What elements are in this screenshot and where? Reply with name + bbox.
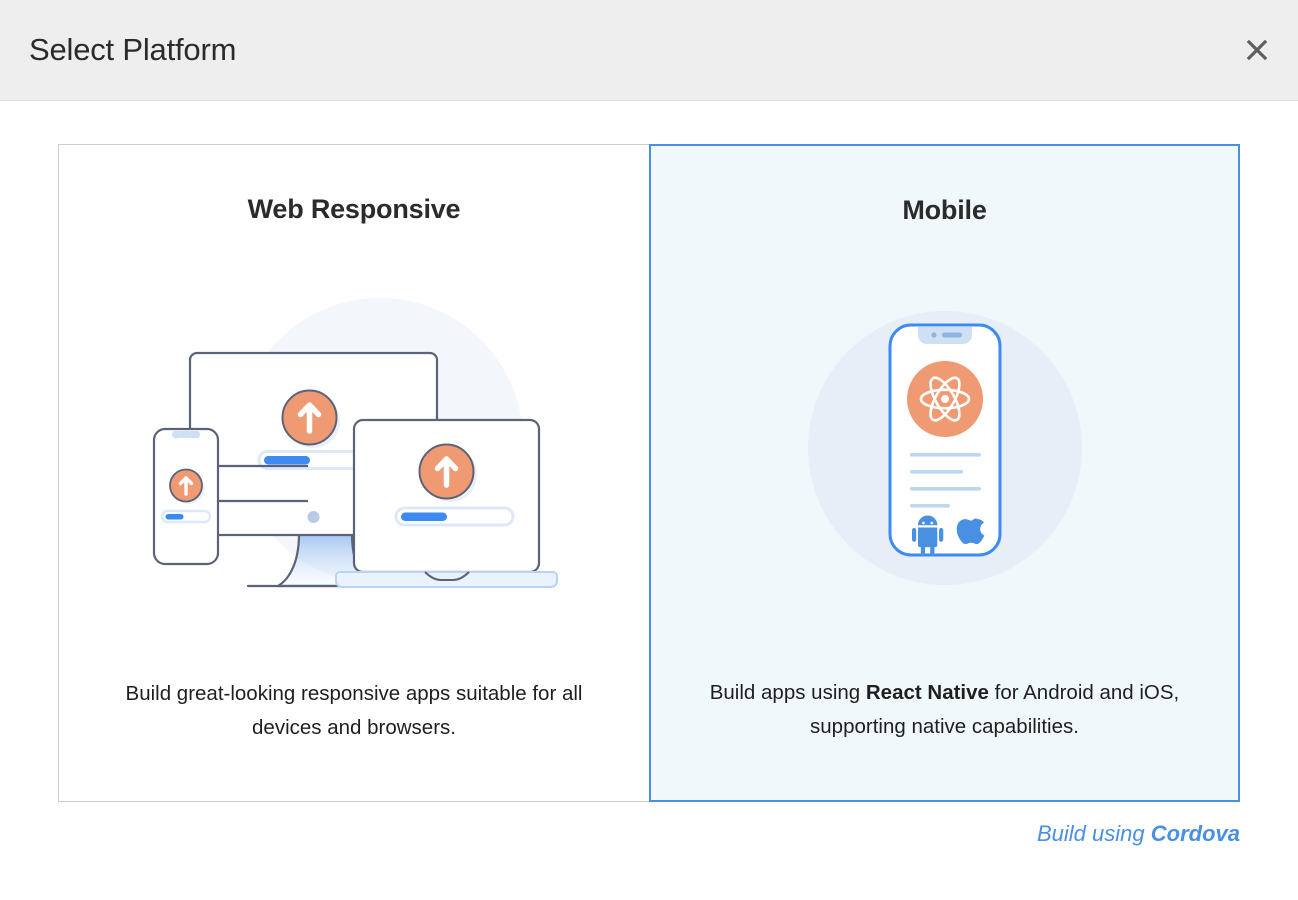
page-title: Select Platform xyxy=(29,32,236,68)
footer-link-container: Build using Cordova xyxy=(1037,821,1240,847)
dialog-header: Select Platform xyxy=(0,0,1298,101)
close-icon xyxy=(1242,35,1272,65)
card-description-prefix: Build apps using xyxy=(710,681,866,704)
phone-react-native-illustration xyxy=(651,220,1238,676)
platform-card-mobile[interactable]: Mobile xyxy=(649,144,1240,802)
platform-card-list: Web Responsive xyxy=(58,144,1240,802)
close-button[interactable] xyxy=(1239,32,1275,68)
cordova-link-prefix: Build using xyxy=(1037,821,1151,846)
devices-illustration xyxy=(59,219,649,677)
card-description-emphasis: React Native xyxy=(866,681,989,704)
platform-card-web-responsive[interactable]: Web Responsive xyxy=(58,144,649,802)
card-description-web-responsive: Build great-looking responsive apps suit… xyxy=(96,677,612,745)
dialog-body: Web Responsive xyxy=(0,101,1298,900)
cordova-link-emphasis: Cordova xyxy=(1151,821,1240,846)
card-description-text: Build great-looking responsive apps suit… xyxy=(126,682,583,739)
card-description-mobile: Build apps using React Native for Androi… xyxy=(687,676,1203,744)
build-using-cordova-link[interactable]: Build using Cordova xyxy=(1037,821,1240,846)
